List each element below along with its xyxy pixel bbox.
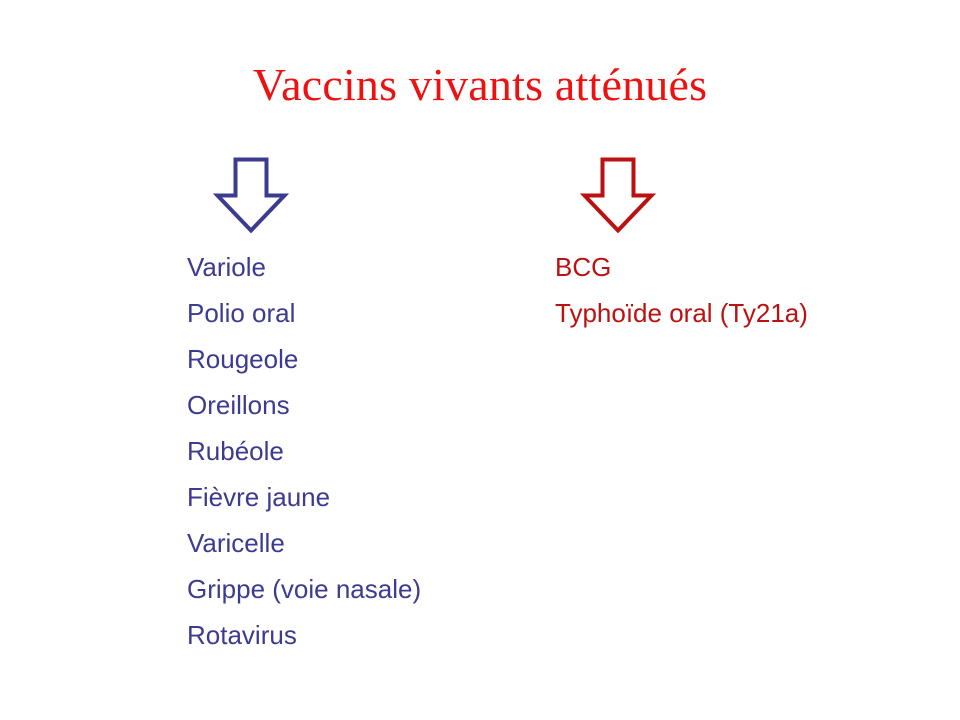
list-item: Fièvre jaune: [187, 474, 421, 520]
list-item: Variole: [187, 244, 421, 290]
vaccine-list-right: BCG Typhoïde oral (Ty21a): [555, 244, 808, 336]
list-item: Polio oral: [187, 290, 421, 336]
page-title: Vaccins vivants atténués: [0, 58, 960, 112]
vaccine-list-left: Variole Polio oral Rougeole Oreillons Ru…: [187, 244, 421, 658]
down-arrow-icon: [578, 155, 658, 235]
slide-canvas: Vaccins vivants atténués Variole Polio o…: [0, 0, 960, 720]
down-arrow-icon: [211, 155, 291, 235]
list-item: BCG: [555, 244, 808, 290]
list-item: Typhoïde oral (Ty21a): [555, 290, 808, 336]
list-item: Grippe (voie nasale): [187, 566, 421, 612]
list-item: Varicelle: [187, 520, 421, 566]
list-item: Oreillons: [187, 382, 421, 428]
list-item: Rougeole: [187, 336, 421, 382]
list-item: Rotavirus: [187, 612, 421, 658]
list-item: Rubéole: [187, 428, 421, 474]
